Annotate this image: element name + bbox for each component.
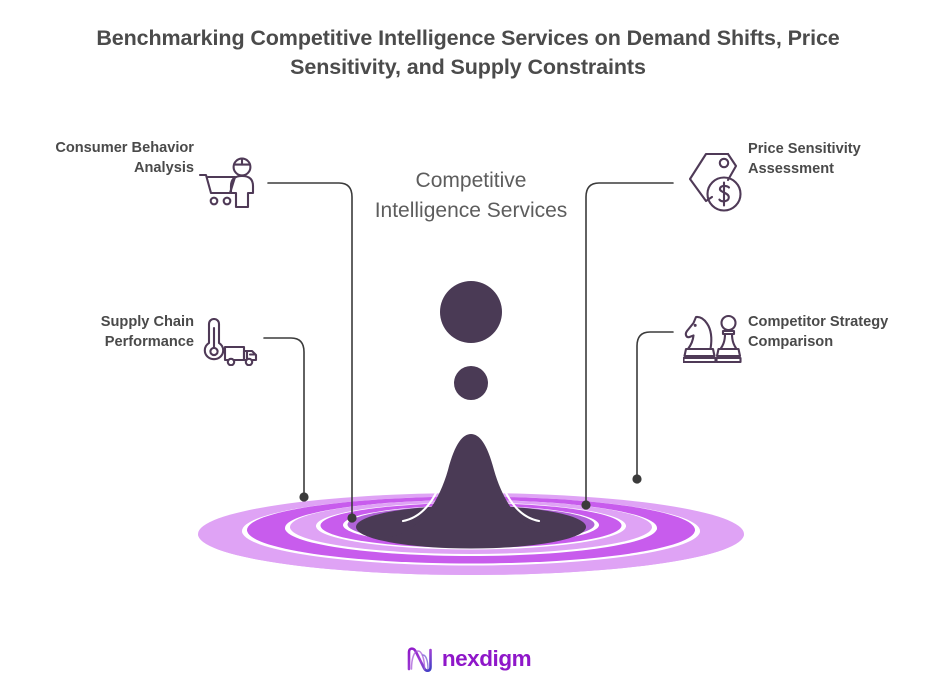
node-label-competitor-strategy-comparison: Competitor Strategy Comparison — [748, 313, 926, 352]
logo-wordmark: nexdigm — [442, 648, 531, 671]
node-label-price-sensitivity-assessment: Price Sensitivity Assessment — [748, 140, 926, 179]
connector-endpoint-supply — [299, 492, 308, 501]
ripple-ring-0 — [348, 506, 595, 543]
connector-consumer-behavior-analysis — [268, 183, 352, 514]
connector-price-sensitivity-assessment — [586, 183, 673, 501]
center-heading: Competitive Intelligence Services — [371, 166, 571, 226]
price-tag-dollar-icon — [688, 152, 746, 219]
ripple-ring-5 — [198, 493, 744, 575]
page-title: Benchmarking Competitive Intelligence Se… — [68, 24, 868, 81]
connector-competitor-strategy-comparison — [637, 332, 673, 475]
connector-supply-chain-performance — [264, 338, 304, 493]
center-pool — [356, 506, 586, 549]
footer-logo: nexdigm — [0, 644, 936, 674]
chess-pieces-icon — [683, 314, 745, 369]
splash-cone — [383, 434, 559, 543]
ripple-ring-3 — [247, 497, 695, 564]
node-label-supply-chain-performance: Supply Chain Performance — [14, 313, 194, 352]
connector-endpoint-price — [581, 500, 590, 509]
ripple-ring-2 — [290, 500, 652, 554]
nexdigm-n-mark-icon — [405, 644, 435, 674]
splash-highlight-left — [403, 482, 441, 521]
thermometer-truck-icon — [200, 318, 260, 371]
ripple-ring-1b — [316, 503, 626, 550]
splash-highlight-right — [501, 482, 539, 521]
shopping-cart-person-icon — [198, 155, 260, 220]
connector-endpoint-competitor — [632, 474, 641, 483]
ripple-ring-1 — [321, 503, 622, 548]
connector-endpoint-consumer — [347, 513, 356, 522]
ripple-ring-4 — [242, 497, 700, 566]
large-droplet — [440, 281, 502, 343]
ripple-bands-lower — [198, 525, 744, 576]
ripple-ring-0b — [343, 506, 599, 545]
node-label-consumer-behavior-analysis: Consumer Behavior Analysis — [14, 139, 194, 178]
ripple-ring-2b — [285, 500, 657, 556]
ripple-rings — [198, 493, 744, 575]
small-droplet — [454, 366, 488, 400]
